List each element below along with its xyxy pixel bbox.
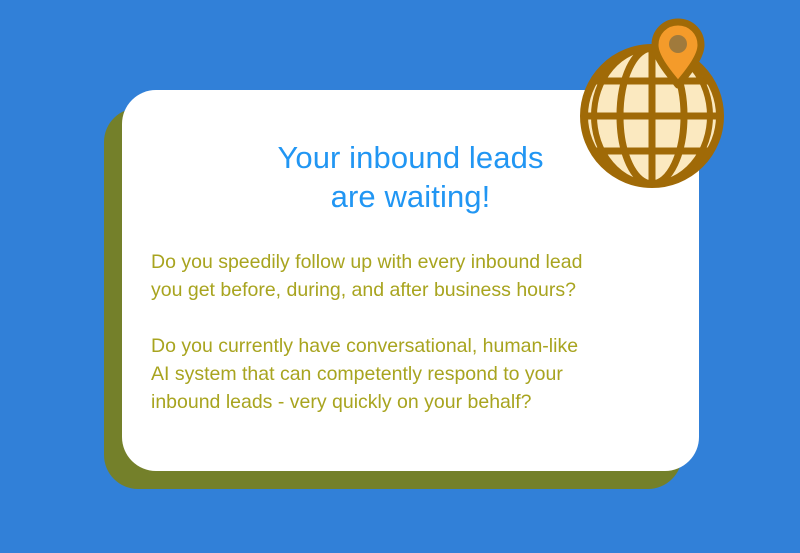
- globe-badge: [578, 18, 728, 193]
- card-body-text: Do you speedily follow up with every inb…: [151, 248, 671, 416]
- paragraph-1-line-2: you get before, during, and after busine…: [151, 276, 671, 304]
- paragraph-2-line-2: AI system that can competently respond t…: [151, 360, 671, 388]
- paragraph-2-line-1: Do you currently have conversational, hu…: [151, 332, 671, 360]
- paragraph-1-line-1: Do you speedily follow up with every inb…: [151, 248, 671, 276]
- globe-icon: [584, 48, 720, 184]
- body-paragraph-2: Do you currently have conversational, hu…: [151, 332, 671, 416]
- poster-canvas: Your inbound leads are waiting! Do you s…: [0, 0, 800, 553]
- body-paragraph-1: Do you speedily follow up with every inb…: [151, 248, 671, 304]
- paragraph-2-line-3: inbound leads - very quickly on your beh…: [151, 388, 671, 416]
